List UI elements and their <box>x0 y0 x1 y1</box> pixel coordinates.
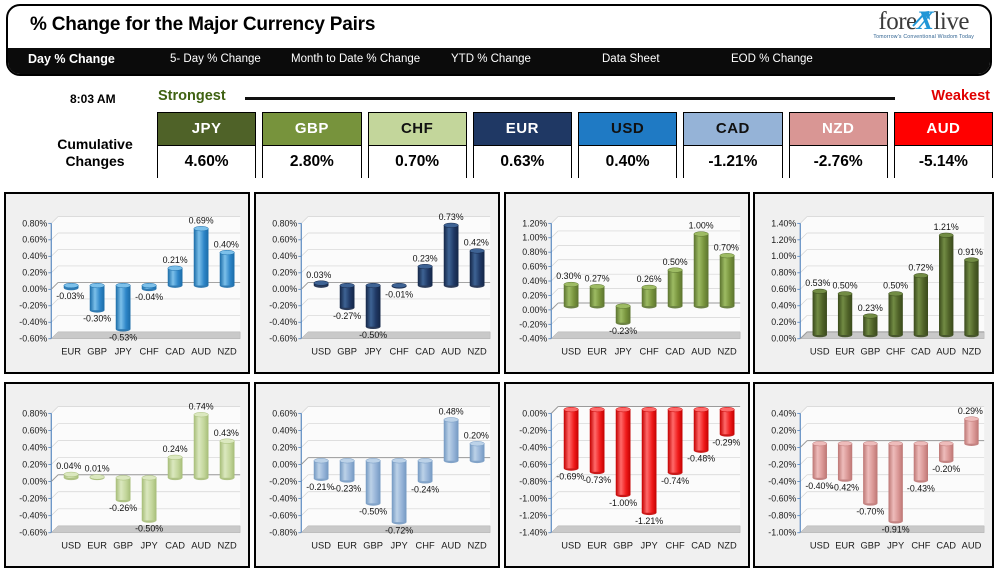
bar-aud <box>939 233 953 337</box>
svg-text:-0.60%: -0.60% <box>269 511 297 521</box>
svg-text:-0.40%: -0.40% <box>519 334 547 344</box>
bar-value-label: 0.21% <box>163 255 188 265</box>
bar-eur <box>90 475 105 480</box>
bar-value-label: 0.01% <box>85 464 110 474</box>
bar-value-label: -1.21% <box>635 516 663 526</box>
x-axis-tick: CHF <box>911 540 930 550</box>
bar-value-label: 0.69% <box>189 215 214 225</box>
x-axis-tick: GBP <box>860 540 880 550</box>
bar-jpy <box>142 475 157 522</box>
currency-cell-eur: EUR0.63% <box>473 112 572 178</box>
x-axis-tick: EUR <box>587 346 607 356</box>
svg-text:-1.00%: -1.00% <box>768 528 796 538</box>
bar-value-label: 0.03% <box>306 270 331 280</box>
logo-tagline: Tomorrow's Conventional Wisdom Today <box>873 35 974 40</box>
bar-chf <box>418 458 433 483</box>
bar-value-label: 0.72% <box>908 262 933 272</box>
svg-text:-0.20%: -0.20% <box>269 301 297 311</box>
bar-value-label: 0.91% <box>958 247 983 257</box>
bar-value-label: -0.48% <box>687 454 715 464</box>
bar-value-label: -0.23% <box>609 326 637 336</box>
forexlive-logo: foreXlive Tomorrow's Conventional Wisdom… <box>873 8 974 40</box>
bar-chf <box>668 407 683 475</box>
svg-text:0.00%: 0.00% <box>522 408 547 418</box>
strongest-label: Strongest <box>158 88 226 104</box>
bar-jpy <box>392 458 407 524</box>
currency-cell-nzd: NZD-2.76% <box>789 112 888 178</box>
svg-text:0.60%: 0.60% <box>272 408 297 418</box>
x-axis-tick: NZD <box>468 346 487 356</box>
svg-text:0.00%: 0.00% <box>22 477 47 487</box>
chart-svg: 0.80%0.60%0.40%0.20%0.00%-0.20%-0.40%-0.… <box>6 194 248 372</box>
chart-panel-usd: Daily % Change USD0.80%0.60%0.40%0.20%0.… <box>4 192 250 374</box>
bar-value-label: 0.27% <box>585 273 610 283</box>
bar-value-label: 1.00% <box>689 221 714 231</box>
bar-nzd <box>964 258 978 338</box>
svg-text:-0.80%: -0.80% <box>269 528 297 538</box>
bar-eur <box>590 284 605 308</box>
bar-value-label: -1.00% <box>609 498 637 508</box>
bar-value-label: 0.70% <box>714 242 739 252</box>
svg-text:0.80%: 0.80% <box>272 218 297 228</box>
x-axis-tick: AUD <box>962 540 982 550</box>
svg-text:0.40%: 0.40% <box>22 442 47 452</box>
bar-aud <box>694 232 709 309</box>
svg-text:0.40%: 0.40% <box>22 251 47 261</box>
bar-cad <box>694 407 709 453</box>
svg-text:0.40%: 0.40% <box>522 276 547 286</box>
bar-nzd <box>470 441 485 463</box>
svg-text:-0.40%: -0.40% <box>519 442 547 452</box>
cumulative-changes-label: Cumulative Changes <box>36 136 154 170</box>
x-axis-tick: JPY <box>615 346 632 356</box>
bar-eur <box>64 283 79 290</box>
x-axis-tick: CHF <box>416 540 436 550</box>
x-axis-tick: NZD <box>218 346 237 356</box>
svg-text:-0.20%: -0.20% <box>519 425 547 435</box>
header-top: % Change for the Major Currency Pairs fo… <box>8 6 990 50</box>
currency-code-label: AUD <box>895 113 992 146</box>
svg-text:-0.60%: -0.60% <box>19 334 47 344</box>
bar-gbp <box>863 314 877 337</box>
chart-svg: 0.80%0.60%0.40%0.20%0.00%-0.20%-0.40%-0.… <box>6 384 248 566</box>
bar-nzd <box>720 253 735 308</box>
currency-dashboard: % Change for the Major Currency Pairs fo… <box>0 0 998 573</box>
x-axis-tick: AUD <box>191 346 211 356</box>
bar-gbp <box>116 475 131 502</box>
bar-nzd <box>720 407 735 436</box>
x-axis-tick: USD <box>311 346 331 356</box>
x-axis-tick: EUR <box>61 346 81 356</box>
svg-text:0.60%: 0.60% <box>22 235 47 245</box>
chart-svg: 0.40%0.20%0.00%-0.20%-0.40%-0.60%-0.80%-… <box>755 384 992 566</box>
svg-text:-0.60%: -0.60% <box>19 528 47 538</box>
x-axis-tick: NZD <box>962 346 981 356</box>
bar-jpy <box>889 441 903 523</box>
bar-value-label: 0.26% <box>637 274 662 284</box>
bar-chf <box>914 441 928 482</box>
currency-cell-gbp: GBP2.80% <box>262 112 361 178</box>
bar-value-label: -0.70% <box>856 506 884 516</box>
x-axis-tick: EUR <box>835 346 855 356</box>
x-axis-tick: GBP <box>860 346 880 356</box>
bar-value-label: 0.74% <box>189 401 214 411</box>
bar-jpy <box>642 407 657 515</box>
cumulative-label-line1: Cumulative <box>36 136 154 153</box>
svg-text:0.20%: 0.20% <box>522 290 547 300</box>
currency-cumulative-value: -5.14% <box>895 146 992 178</box>
svg-text:-1.20%: -1.20% <box>519 511 547 521</box>
currency-cumulative-value: 0.70% <box>369 146 466 178</box>
svg-text:1.20%: 1.20% <box>522 218 547 228</box>
x-axis-tick: CAD <box>911 346 931 356</box>
currency-strength-row: JPY4.60%GBP2.80%CHF0.70%EUR0.63%USD0.40%… <box>157 112 993 178</box>
chart-svg: 1.20%1.00%0.80%0.60%0.40%0.20%0.00%-0.20… <box>506 194 748 372</box>
svg-text:1.00%: 1.00% <box>522 233 547 243</box>
svg-text:-0.20%: -0.20% <box>768 459 796 469</box>
chart-panel-jpy: Daily % Change JPY1.40%1.20%1.00%0.80%0.… <box>753 192 994 374</box>
bar-value-label: 0.30% <box>556 271 581 281</box>
x-axis-tick: AUD <box>691 346 711 356</box>
bar-value-label: 0.48% <box>439 407 464 417</box>
currency-cell-cad: CAD-1.21% <box>683 112 782 178</box>
svg-text:0.40%: 0.40% <box>272 425 297 435</box>
logo-text-after: live <box>933 8 969 35</box>
x-axis-tick: JPY <box>641 540 658 550</box>
bar-value-label: 0.50% <box>883 281 908 291</box>
svg-text:-0.60%: -0.60% <box>269 334 297 344</box>
bar-cad <box>418 264 433 288</box>
x-axis-tick: GBP <box>613 540 633 550</box>
bar-aud <box>964 417 978 446</box>
bar-usd <box>564 407 579 470</box>
svg-text:-0.60%: -0.60% <box>768 494 796 504</box>
x-axis-tick: USD <box>311 540 331 550</box>
bar-jpy <box>366 283 381 329</box>
svg-text:-0.40%: -0.40% <box>269 317 297 327</box>
x-axis-tick: USD <box>810 346 830 356</box>
bar-value-label: 1.21% <box>934 222 959 232</box>
svg-text:0.20%: 0.20% <box>771 317 796 327</box>
bar-aud <box>194 412 209 480</box>
svg-text:0.00%: 0.00% <box>522 305 547 315</box>
x-axis-tick: JPY <box>141 540 158 550</box>
bar-nzd <box>470 249 485 288</box>
currency-cell-jpy: JPY4.60% <box>157 112 256 178</box>
svg-text:0.60%: 0.60% <box>272 235 297 245</box>
bar-value-label: 0.23% <box>413 253 438 263</box>
x-axis-tick: NZD <box>218 540 237 550</box>
x-axis-tick: USD <box>561 346 581 356</box>
currency-cumulative-value: -2.76% <box>790 146 887 178</box>
nav-bar: Day % Change 5- Day % Change Month to Da… <box>8 48 990 74</box>
x-axis-tick: JPY <box>115 346 132 356</box>
bar-value-label: 0.24% <box>163 444 188 454</box>
svg-text:-1.00%: -1.00% <box>519 494 547 504</box>
bar-value-label: -0.50% <box>135 524 163 534</box>
currency-cumulative-value: -1.21% <box>684 146 781 178</box>
svg-text:-0.60%: -0.60% <box>519 459 547 469</box>
x-axis-tick: CHF <box>666 540 686 550</box>
bar-eur <box>590 407 605 474</box>
bar-value-label: -0.24% <box>411 484 439 494</box>
x-axis-tick: JPY <box>887 540 904 550</box>
svg-text:0.20%: 0.20% <box>272 442 297 452</box>
bar-value-label: 0.73% <box>439 212 464 222</box>
bar-cad <box>168 266 183 288</box>
bar-value-label: -0.03% <box>56 291 84 301</box>
bar-value-label: -0.04% <box>135 292 163 302</box>
x-axis-tick: JPY <box>391 540 408 550</box>
nav-item-5-day-change[interactable]: 5- Day % Change <box>170 53 261 65</box>
bar-usd <box>314 458 329 481</box>
svg-text:-0.20%: -0.20% <box>19 494 47 504</box>
bar-gbp <box>90 283 105 312</box>
currency-cumulative-value: 4.60% <box>158 146 255 178</box>
svg-text:0.80%: 0.80% <box>22 408 47 418</box>
bar-value-label: -0.72% <box>385 525 413 535</box>
bar-eur <box>838 441 852 481</box>
strength-gradient-line <box>245 97 895 100</box>
x-axis-tick: USD <box>561 540 581 550</box>
bar-value-label: -0.20% <box>932 464 960 474</box>
chart-panel-nzd: Daily % Change NZD0.40%0.20%0.00%-0.20%-… <box>753 382 994 568</box>
chart-panel-chf: Daily % Change CHF0.80%0.60%0.40%0.20%0.… <box>4 382 250 568</box>
bar-value-label: -0.50% <box>359 507 387 517</box>
bar-value-label: -0.40% <box>805 481 833 491</box>
svg-text:0.60%: 0.60% <box>771 284 796 294</box>
bar-value-label: -0.53% <box>109 332 137 342</box>
svg-text:1.40%: 1.40% <box>771 218 796 228</box>
x-axis-tick: NZD <box>718 540 737 550</box>
x-axis-tick: CAD <box>415 346 435 356</box>
bar-usd <box>813 441 827 480</box>
svg-text:0.80%: 0.80% <box>522 247 547 257</box>
currency-code-label: JPY <box>158 113 255 146</box>
chart-svg: 0.80%0.60%0.40%0.20%0.00%-0.20%-0.40%-0.… <box>256 194 498 372</box>
bar-eur <box>340 458 355 482</box>
svg-text:0.60%: 0.60% <box>522 262 547 272</box>
x-axis-tick: GBP <box>337 346 357 356</box>
currency-code-label: USD <box>579 113 676 146</box>
bar-nzd <box>220 250 235 288</box>
chart-panel-gbp: Daily % Change GBP1.20%1.00%0.80%0.60%0.… <box>504 192 750 374</box>
bar-chf <box>642 285 657 308</box>
bar-aud <box>194 226 209 288</box>
svg-text:0.00%: 0.00% <box>272 284 297 294</box>
svg-text:0.20%: 0.20% <box>272 268 297 278</box>
bar-value-label: -0.73% <box>583 475 611 485</box>
svg-text:0.60%: 0.60% <box>22 425 47 435</box>
bar-value-label: -0.69% <box>556 472 584 482</box>
x-axis-tick: CHF <box>140 346 159 356</box>
bar-value-label: -0.91% <box>882 524 910 534</box>
svg-text:-0.40%: -0.40% <box>19 511 47 521</box>
bar-value-label: -0.74% <box>661 476 689 486</box>
bar-cad <box>668 268 683 309</box>
bar-jpy <box>116 283 131 331</box>
svg-text:0.00%: 0.00% <box>22 284 47 294</box>
bar-value-label: -0.29% <box>712 437 740 447</box>
currency-cell-chf: CHF0.70% <box>368 112 467 178</box>
bar-value-label: 0.50% <box>663 257 688 267</box>
svg-text:0.00%: 0.00% <box>272 459 297 469</box>
bar-value-label: -0.26% <box>109 503 137 513</box>
bar-chf <box>142 283 157 291</box>
bar-eur <box>838 292 852 338</box>
svg-text:-0.80%: -0.80% <box>768 511 796 521</box>
svg-text:0.40%: 0.40% <box>272 251 297 261</box>
bar-aud <box>444 418 459 464</box>
bar-value-label: 0.42% <box>464 238 489 248</box>
x-axis-tick: NZD <box>468 540 487 550</box>
x-axis-tick: JPY <box>365 346 382 356</box>
bar-jpy <box>616 304 631 325</box>
svg-text:0.20%: 0.20% <box>771 425 796 435</box>
bar-value-label: 0.29% <box>958 406 983 416</box>
x-axis-tick: GBP <box>363 540 383 550</box>
svg-text:0.80%: 0.80% <box>771 268 796 278</box>
timestamp: 8:03 AM <box>70 92 116 106</box>
x-axis-tick: CAD <box>665 346 685 356</box>
header: % Change for the Major Currency Pairs fo… <box>6 4 992 76</box>
bar-usd <box>314 281 329 288</box>
bar-nzd <box>220 439 235 480</box>
currency-code-label: EUR <box>474 113 571 146</box>
bar-value-label: -0.50% <box>359 330 387 340</box>
bar-usd <box>64 472 79 480</box>
svg-text:0.20%: 0.20% <box>22 459 47 469</box>
currency-code-label: NZD <box>790 113 887 146</box>
x-axis-tick: EUR <box>835 540 855 550</box>
svg-text:0.40%: 0.40% <box>771 408 796 418</box>
x-axis-tick: AUD <box>936 346 956 356</box>
x-axis-tick: CHF <box>640 346 659 356</box>
svg-text:-0.40%: -0.40% <box>768 477 796 487</box>
bar-aud <box>444 223 459 288</box>
svg-text:0.80%: 0.80% <box>22 218 47 228</box>
nav-item-data-sheet[interactable]: Data Sheet <box>602 53 660 65</box>
page-title: % Change for the Major Currency Pairs <box>30 14 375 36</box>
x-axis-tick: EUR <box>87 540 107 550</box>
chart-svg: 1.40%1.20%1.00%0.80%0.60%0.40%0.20%0.00%… <box>755 194 992 372</box>
svg-text:-0.40%: -0.40% <box>19 317 47 327</box>
bar-value-label: 0.04% <box>56 461 81 471</box>
charts-grid: Daily % Change USD0.80%0.60%0.40%0.20%0.… <box>4 192 994 570</box>
x-axis-tick: AUD <box>191 540 211 550</box>
currency-cell-usd: USD0.40% <box>578 112 677 178</box>
currency-code-label: GBP <box>263 113 360 146</box>
bar-value-label: -0.21% <box>306 482 334 492</box>
bar-gbp <box>863 441 877 505</box>
svg-text:0.20%: 0.20% <box>22 268 47 278</box>
chart-panel-eur: Daily % Change EUR0.80%0.60%0.40%0.20%0.… <box>254 192 500 374</box>
bar-value-label: 0.53% <box>805 278 830 288</box>
svg-text:-0.40%: -0.40% <box>269 494 297 504</box>
x-axis-tick: CAD <box>165 540 185 550</box>
nav-item-month-to-date[interactable]: Month to Date % Change <box>291 53 420 65</box>
bar-value-label: -0.43% <box>907 483 935 493</box>
currency-cumulative-value: 2.80% <box>263 146 360 178</box>
bar-gbp <box>366 458 381 505</box>
x-axis-tick: NZD <box>718 346 737 356</box>
x-axis-tick: USD <box>61 540 81 550</box>
bar-cad <box>939 441 953 463</box>
x-axis-tick: CHF <box>390 346 409 356</box>
svg-text:-1.40%: -1.40% <box>519 528 547 538</box>
x-axis-tick: AUD <box>441 346 461 356</box>
x-axis-tick: GBP <box>87 346 107 356</box>
x-axis-tick: CAD <box>691 540 711 550</box>
currency-cumulative-value: 0.63% <box>474 146 571 178</box>
nav-item-day-change[interactable]: Day % Change <box>28 52 115 66</box>
bar-gbp <box>340 283 355 310</box>
svg-text:1.20%: 1.20% <box>771 235 796 245</box>
svg-text:0.00%: 0.00% <box>771 442 796 452</box>
bar-value-label: 0.23% <box>858 303 883 313</box>
x-axis-tick: USD <box>810 540 830 550</box>
bar-value-label: -0.23% <box>333 484 361 494</box>
bar-chf <box>889 292 903 338</box>
chart-panel-aud: Daily % Change AUD0.00%-0.20%-0.40%-0.60… <box>504 382 750 568</box>
arrow-icon <box>911 9 933 29</box>
svg-text:-0.80%: -0.80% <box>519 477 547 487</box>
bar-value-label: 0.20% <box>464 430 489 440</box>
svg-text:1.00%: 1.00% <box>771 251 796 261</box>
svg-text:-0.20%: -0.20% <box>519 319 547 329</box>
bar-cad <box>914 273 928 337</box>
bar-value-label: -0.42% <box>831 483 859 493</box>
currency-cumulative-value: 0.40% <box>579 146 676 178</box>
x-axis-tick: CAD <box>936 540 956 550</box>
currency-code-label: CHF <box>369 113 466 146</box>
bar-value-label: 0.50% <box>833 281 858 291</box>
bar-value-label: 0.43% <box>214 428 239 438</box>
x-axis-tick: CAD <box>165 346 185 356</box>
x-axis-tick: EUR <box>337 540 357 550</box>
chart-svg: 0.00%-0.20%-0.40%-0.60%-0.80%-1.00%-1.20… <box>506 384 748 566</box>
bar-cad <box>168 455 183 480</box>
bar-chf <box>392 283 407 288</box>
bar-value-label: 0.40% <box>214 239 239 249</box>
svg-text:0.40%: 0.40% <box>771 301 796 311</box>
weakest-label: Weakest <box>931 88 990 104</box>
svg-text:-0.20%: -0.20% <box>19 301 47 311</box>
bar-usd <box>564 282 579 308</box>
chart-panel-cad: Daily % Change CAD0.60%0.40%0.20%0.00%-0… <box>254 382 500 568</box>
bar-usd <box>813 289 827 337</box>
cumulative-label-line2: Changes <box>36 153 154 170</box>
svg-text:-0.20%: -0.20% <box>269 477 297 487</box>
bar-gbp <box>616 407 631 497</box>
bar-value-label: -0.27% <box>333 311 361 321</box>
x-axis-tick: EUR <box>587 540 607 550</box>
bar-value-label: -0.01% <box>385 289 413 299</box>
currency-code-label: CAD <box>684 113 781 146</box>
svg-text:0.00%: 0.00% <box>771 334 796 344</box>
bar-value-label: -0.30% <box>83 313 111 323</box>
nav-item-eod-change[interactable]: EOD % Change <box>731 53 813 65</box>
chart-svg: 0.60%0.40%0.20%0.00%-0.20%-0.40%-0.60%-0… <box>256 384 498 566</box>
currency-cell-aud: AUD-5.14% <box>894 112 993 178</box>
x-axis-tick: CHF <box>886 346 905 356</box>
x-axis-tick: GBP <box>113 540 133 550</box>
nav-item-ytd-change[interactable]: YTD % Change <box>451 53 531 65</box>
x-axis-tick: AUD <box>441 540 461 550</box>
